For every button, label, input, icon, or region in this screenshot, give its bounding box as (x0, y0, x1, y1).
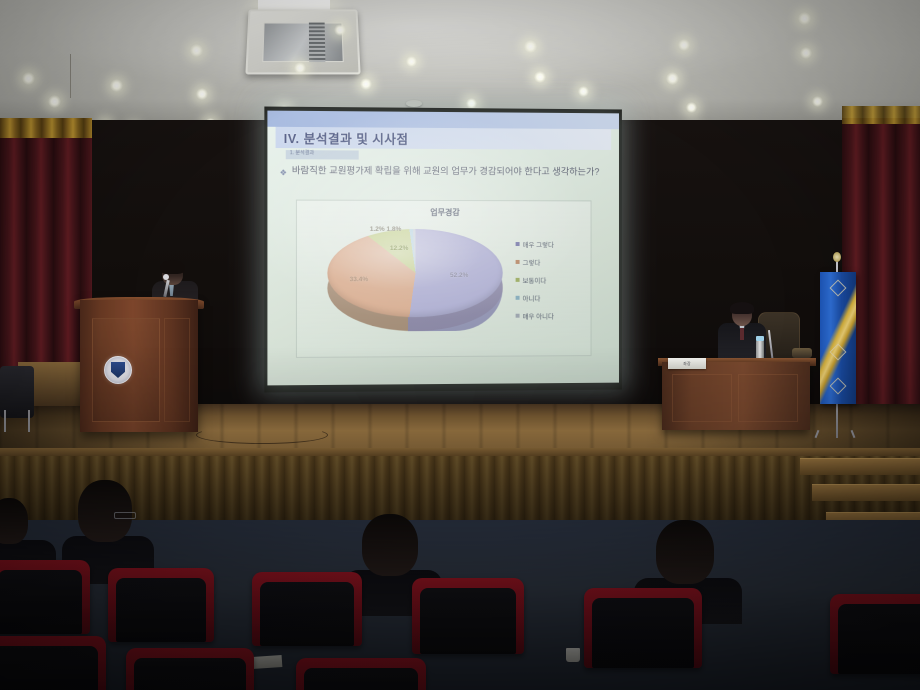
head-table (662, 362, 810, 430)
legend-item: 그렇다 (516, 257, 554, 267)
auditorium-seat (126, 648, 254, 690)
legend-swatch-icon (516, 296, 520, 300)
legend-swatch-icon (516, 260, 520, 264)
legend-swatch-icon (516, 314, 520, 318)
downlight (196, 88, 208, 100)
chair-leg (4, 410, 6, 432)
slide-subtitle: 1. 분석결과 (290, 149, 314, 156)
legend-item: 아니다 (516, 293, 554, 303)
pie-label-agree: 33.4% (350, 276, 369, 283)
downlight (22, 72, 35, 85)
downlight (686, 102, 697, 113)
stage-step (812, 484, 920, 501)
downlight (666, 72, 679, 85)
audience-head (656, 520, 714, 584)
legend-label: 보통이다 (523, 275, 547, 285)
podium-side-panel (164, 318, 190, 422)
moderator-tie (740, 328, 744, 340)
pie-chart: 1.2% 1.8% 52.2% 33.4% 12.2% (327, 229, 502, 335)
seat-cushion (0, 646, 98, 690)
moderator-hair (730, 302, 754, 314)
downlight (534, 71, 546, 83)
stage-step (800, 458, 920, 475)
slide-question-text: 바람직한 교원평가제 확립을 위해 교원의 업무가 경감되어야 한다고 생각하는… (292, 163, 611, 178)
auditorium-seat (0, 560, 90, 634)
presentation-slide: IV. 분석결과 및 시사점 1. 분석결과 ❖ 바람직한 교원평가제 확립을 … (267, 111, 619, 386)
downlight (190, 44, 203, 57)
pie-label-small-slices: 1.2% 1.8% (370, 226, 402, 233)
downlight (678, 39, 690, 51)
auditorium-seat (830, 594, 920, 674)
downlight (110, 79, 123, 92)
auditorium-seat (252, 572, 362, 646)
seat-cushion (116, 578, 206, 642)
organization-flag (820, 272, 856, 404)
auditorium-seat (296, 658, 426, 690)
hanging-wire (70, 54, 71, 98)
downlight (294, 62, 306, 74)
audience-head (0, 498, 28, 544)
flag-finial-icon (833, 252, 841, 262)
legend-label: 매우 그렇다 (523, 239, 554, 249)
downlight (800, 47, 812, 59)
curtain-valance-right (842, 106, 920, 124)
auditorium-scene: IV. 분석결과 및 시사점 1. 분석결과 ❖ 바람직한 교원평가제 확립을 … (0, 0, 920, 690)
seat-cushion (304, 668, 418, 690)
downlight (812, 96, 823, 107)
bullet-marker-icon: ❖ (280, 168, 287, 177)
nameplate-text: 좌장 (668, 361, 706, 367)
university-crest-icon (104, 356, 132, 384)
auditorium-seat (584, 588, 702, 668)
legend-label: 매우 아니다 (523, 311, 554, 321)
legend-item: 매우 아니다 (516, 311, 554, 321)
legend-swatch-icon (516, 242, 520, 246)
legend-item: 보통이다 (516, 275, 554, 285)
paper-cup (566, 648, 580, 662)
downlight (360, 78, 372, 90)
legend-item: 매우 그렇다 (516, 239, 554, 249)
seat-cushion (592, 598, 694, 668)
seat-cushion (838, 604, 920, 674)
downlight (406, 56, 417, 67)
seat-cushion (0, 570, 82, 634)
smoke-detector (406, 100, 422, 107)
legend-label: 아니다 (523, 293, 541, 303)
audience-head (362, 514, 418, 576)
pie-chart-container: 업무경감 1.2% 1.8% 52.2% 33.4% 12.2% 매우 그 (296, 200, 592, 358)
presenter-hair (160, 260, 185, 274)
downlight (48, 95, 61, 108)
seat-cushion (420, 588, 516, 654)
audience-head (78, 480, 132, 542)
downlight (334, 24, 346, 36)
auditorium-seat (412, 578, 524, 654)
chair-armrest (792, 348, 812, 358)
speaker-podium (80, 300, 198, 432)
chair-leg (28, 410, 30, 432)
water-bottle-cap (756, 336, 764, 341)
eyeglasses-icon (114, 512, 136, 519)
chart-legend: 매우 그렇다 그렇다 보통이다 아니다 (516, 239, 554, 329)
projection-screen: IV. 분석결과 및 시사점 1. 분석결과 ❖ 바람직한 교원평가제 확립을 … (267, 111, 619, 386)
seat-cushion (134, 658, 246, 690)
stage-cable (196, 426, 328, 444)
microphone-head-icon (163, 274, 169, 280)
legend-swatch-icon (516, 278, 520, 282)
nameplate: 좌장 (668, 358, 706, 369)
downlight (798, 12, 811, 25)
handout-paper (252, 655, 283, 669)
pie-label-neutral: 12.2% (390, 245, 409, 252)
curtain-valance-left (0, 118, 92, 138)
seat-cushion (260, 582, 354, 646)
legend-label: 그렇다 (523, 257, 541, 267)
downlight (524, 40, 537, 53)
pie-surface (327, 229, 502, 318)
auditorium-seat (0, 636, 106, 690)
downlight (578, 86, 589, 97)
auditorium-seat (108, 568, 214, 642)
table-front-panel (738, 374, 798, 422)
pie-label-very-agree: 52.2% (450, 272, 468, 279)
slide-section-title: IV. 분석결과 및 시사점 (284, 128, 409, 148)
chart-title: 업무경감 (297, 207, 591, 219)
table-front-panel (672, 374, 732, 422)
